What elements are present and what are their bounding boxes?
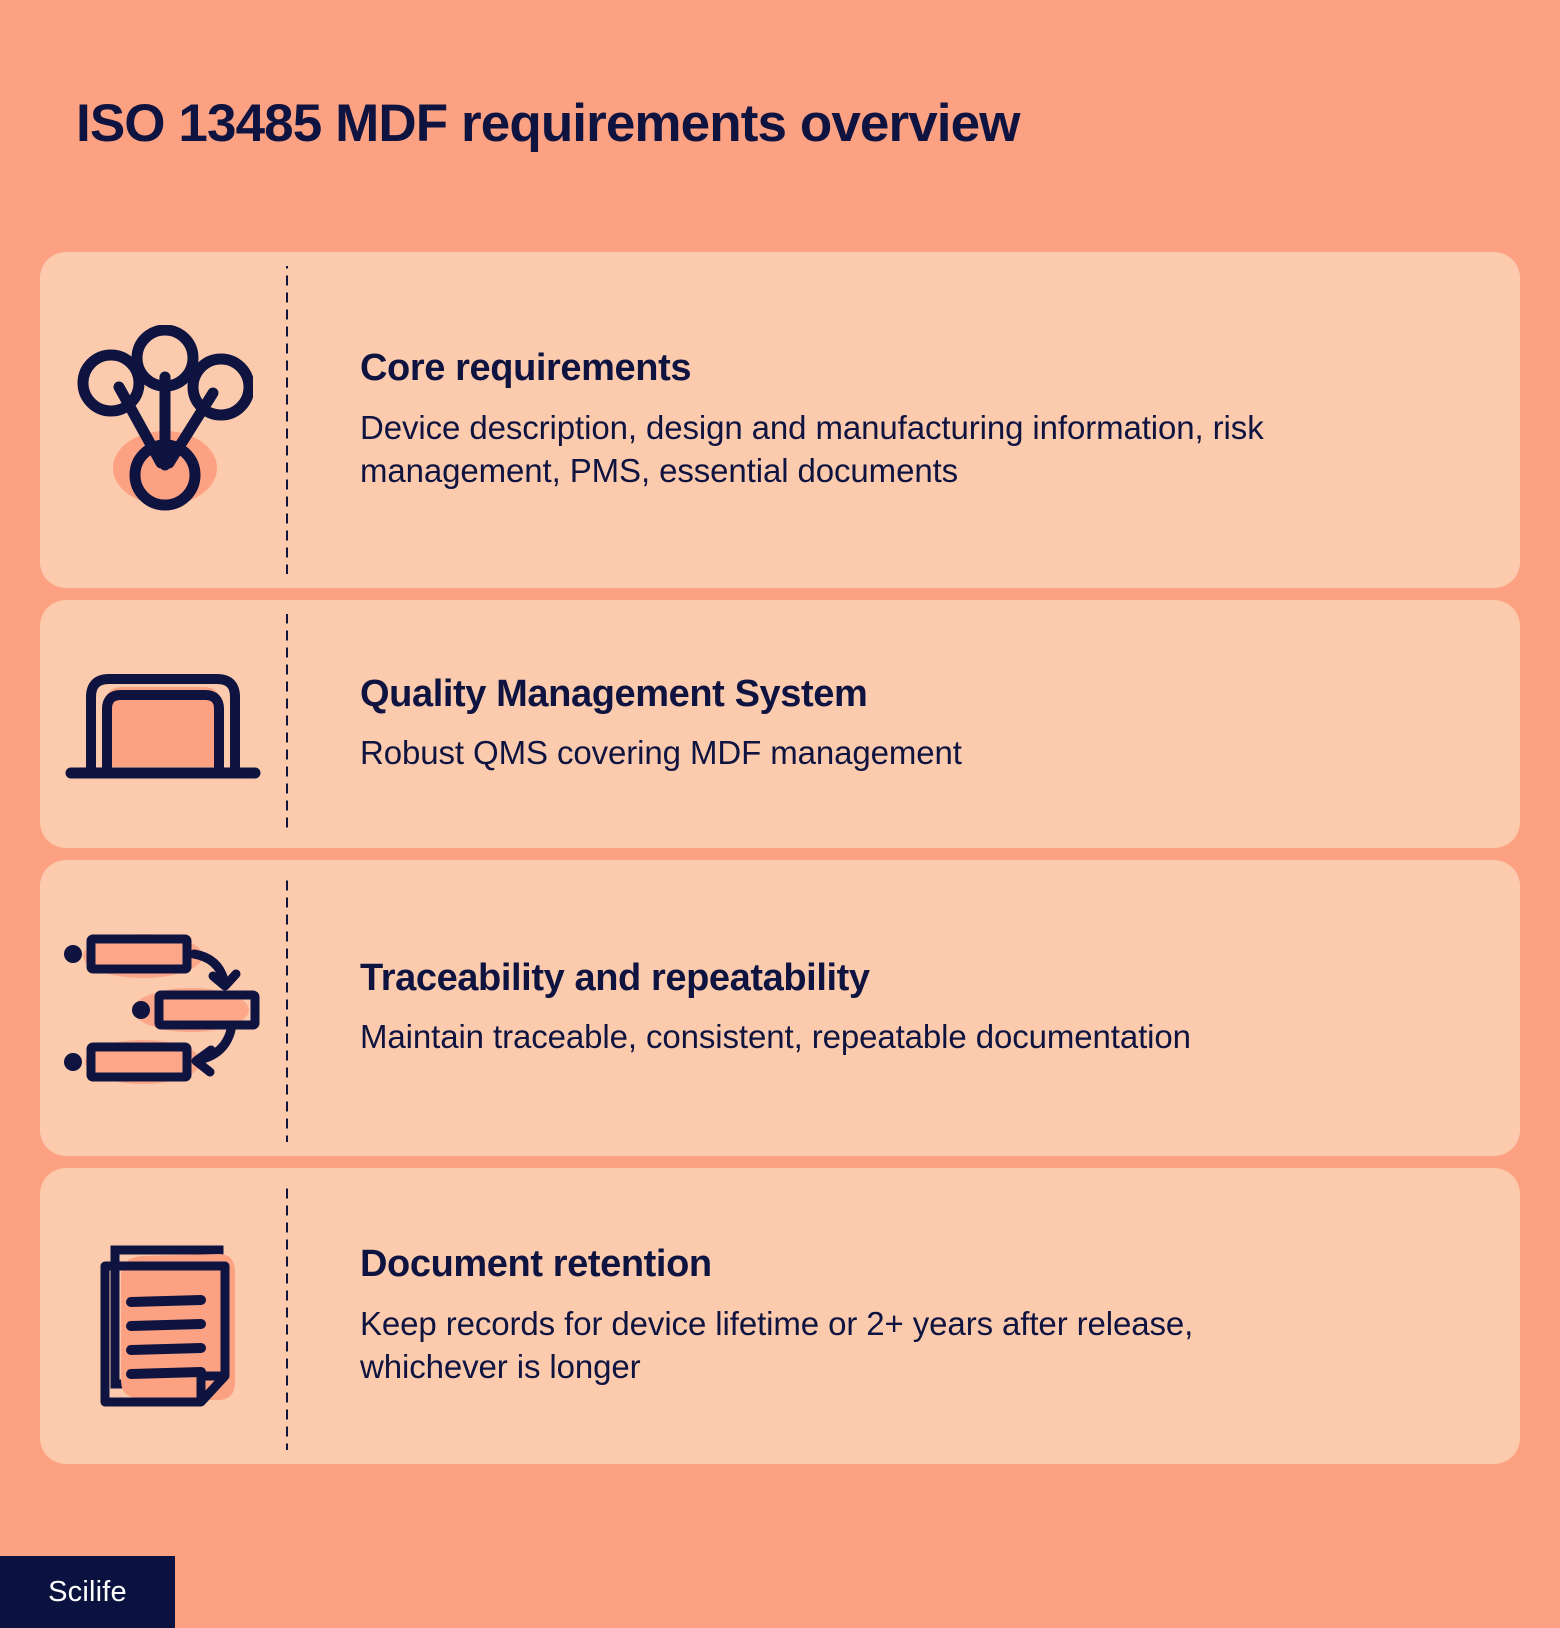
card-text: Core requirements Device description, de…	[288, 252, 1520, 588]
card-body: Robust QMS covering MDF management	[360, 732, 1360, 775]
card-body: Maintain traceable, consistent, repeatab…	[360, 1016, 1265, 1059]
card-title: Quality Management System	[360, 673, 1480, 717]
requirements-card-list: Core requirements Device description, de…	[40, 252, 1520, 1464]
documents-stack-icon	[73, 1216, 253, 1416]
icon-cell	[40, 1168, 286, 1464]
card-quality-management-system: Quality Management System Robust QMS cov…	[40, 600, 1520, 848]
card-title: Core requirements	[360, 347, 1480, 391]
card-core-requirements: Core requirements Device description, de…	[40, 252, 1520, 588]
card-title: Traceability and repeatability	[360, 957, 1480, 1001]
icon-cell	[40, 600, 286, 848]
logo-text: Scilife	[48, 1576, 127, 1609]
page-title: ISO 13485 MDF requirements overview	[76, 95, 1020, 153]
card-traceability-repeatability: Traceability and repeatability Maintain …	[40, 860, 1520, 1156]
process-flow-arrows-icon	[63, 928, 263, 1088]
icon-cell	[40, 252, 286, 588]
card-body: Keep records for device lifetime or 2+ y…	[360, 1303, 1320, 1389]
card-body: Device description, design and manufactu…	[360, 407, 1265, 493]
card-text: Document retention Keep records for devi…	[288, 1168, 1520, 1464]
scilife-logo-badge: Scilife	[0, 1556, 175, 1628]
card-text: Quality Management System Robust QMS cov…	[288, 600, 1520, 848]
hierarchy-nodes-icon	[73, 325, 253, 515]
card-document-retention: Document retention Keep records for devi…	[40, 1168, 1520, 1464]
card-title: Document retention	[360, 1243, 1480, 1287]
infographic-page: ISO 13485 MDF requirements overview Core…	[0, 0, 1560, 1628]
card-text: Traceability and repeatability Maintain …	[288, 860, 1520, 1156]
icon-cell	[40, 860, 286, 1156]
laptop-icon	[63, 659, 263, 789]
